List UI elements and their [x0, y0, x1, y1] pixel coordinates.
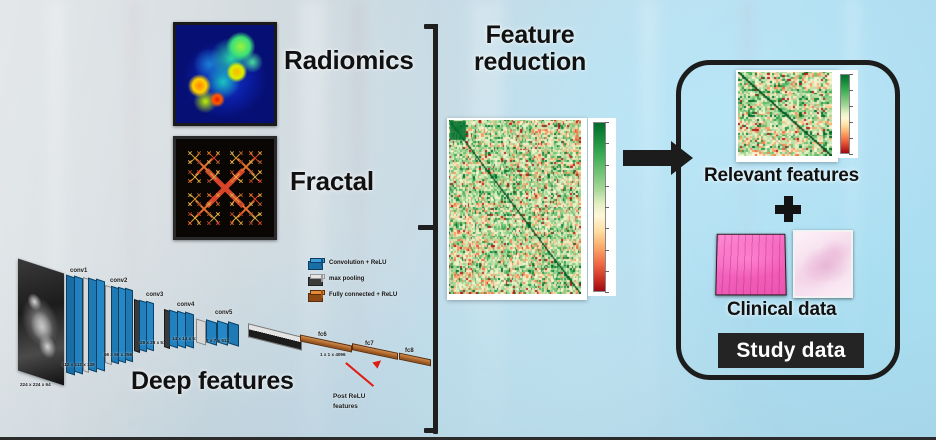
cnn-label-fc6: fc6	[318, 332, 327, 338]
radiomics-thumbnail	[173, 22, 277, 126]
cnn-dims-conv5: 7 x 7 x 512	[206, 338, 229, 343]
cnn-fc7-bar	[352, 343, 398, 360]
legend-swatch-convolution	[308, 258, 323, 268]
legend-label-maxpool: max pooling	[329, 276, 364, 282]
cnn-label-conv5: conv5	[215, 310, 232, 316]
relevant-features-colorbar	[836, 70, 858, 158]
grouping-brace	[408, 18, 438, 422]
feature-reduction-heatmap	[447, 118, 587, 300]
cnn-flatten-bar	[248, 323, 302, 350]
relevant-features-label: Relevant features	[704, 166, 859, 187]
histology-slide-pale	[793, 230, 853, 298]
fractal-thumbnail	[173, 136, 277, 240]
feature-reduction-title: Feature reduction	[474, 22, 586, 76]
cnn-dims-conv2: 56 x 56 x 256	[104, 352, 132, 357]
fractal-label: Fractal	[290, 167, 374, 195]
legend-label-convolution: Convolution + ReLU	[329, 260, 387, 266]
cnn-label-conv4: conv4	[177, 302, 194, 308]
cnn-dims-fc: 1 x 1 x 4096	[320, 352, 346, 357]
feature-reduction-colorbar	[588, 118, 616, 296]
cnn-label-conv2: conv2	[110, 278, 127, 284]
post-relu-annotation: Post ReLU features	[333, 392, 365, 411]
relevant-features-heatmap	[736, 70, 838, 162]
legend-swatch-maxpool	[308, 274, 323, 284]
deep-features-label: Deep features	[131, 368, 294, 395]
cnn-input-dims: 224 x 224 x 64	[20, 382, 51, 387]
cnn-label-conv3: conv3	[146, 292, 163, 298]
cnn-label-fc7: fc7	[365, 341, 374, 347]
cnn-dims-conv1: 112 x 112 x 128	[62, 362, 95, 367]
legend-label-fullyconnected: Fully connected + ReLU	[329, 292, 397, 298]
radiomics-label: Radiomics	[284, 46, 414, 74]
clinical-data-label: Clinical data	[727, 300, 836, 321]
cnn-input-image	[18, 259, 64, 386]
plus-icon	[775, 196, 801, 222]
legend-item-fullyconnected: Fully connected + ReLU	[308, 290, 397, 300]
post-relu-arrow	[344, 360, 384, 394]
legend-item-maxpool: max pooling	[308, 274, 364, 284]
legend-swatch-fullyconnected	[308, 290, 323, 300]
figure-canvas: Radiomics Fractal 224 x 224 x 64 conv1 1…	[0, 0, 936, 440]
study-data-badge: Study data	[718, 333, 864, 368]
cnn-label-conv1: conv1	[70, 268, 87, 274]
histology-slide-pink	[715, 234, 786, 296]
legend-item-convolution: Convolution + ReLU	[308, 258, 387, 268]
study-data-label: Study data	[736, 339, 845, 363]
